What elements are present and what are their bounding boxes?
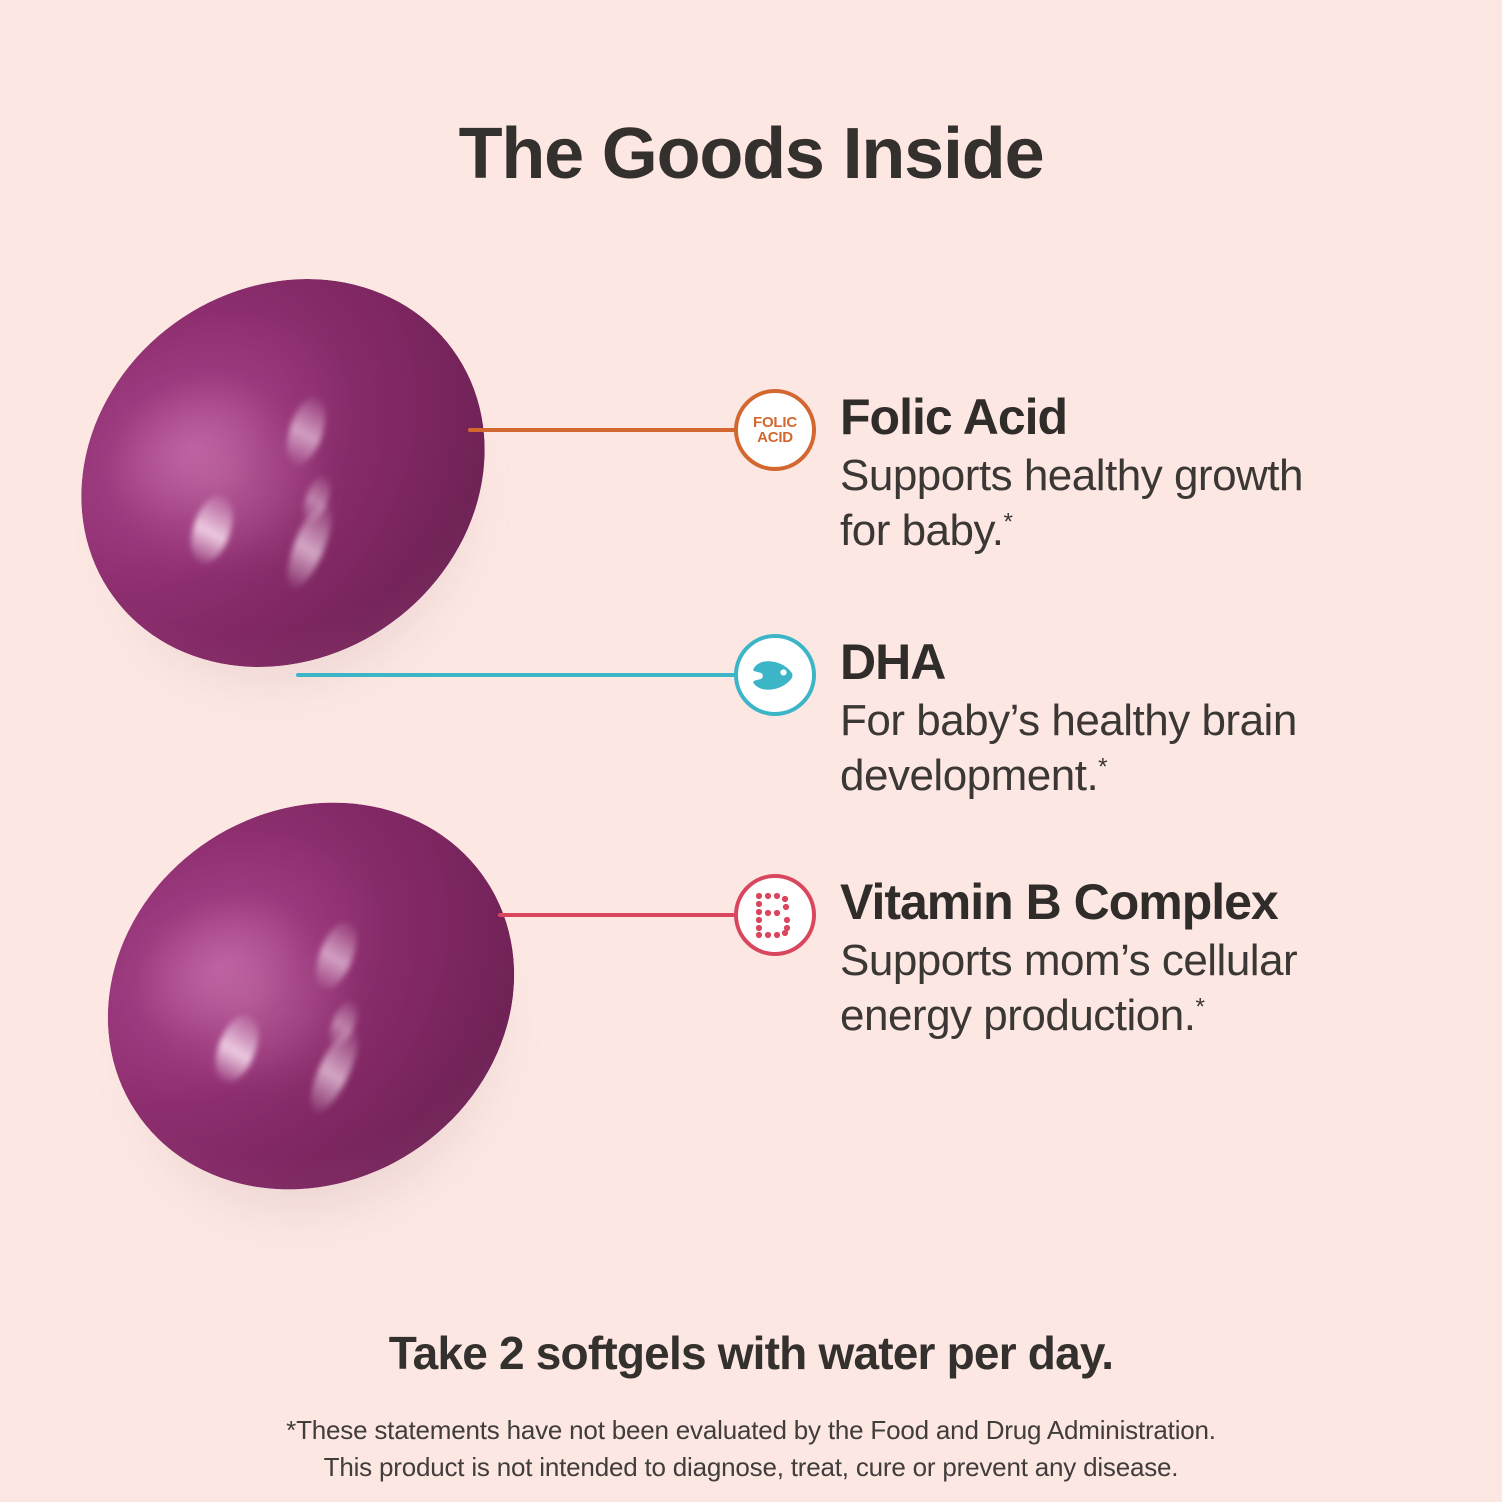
benefit-text-block: DHA For baby’s healthy brain development… [840, 634, 1340, 803]
capsule-rim-light [34, 726, 589, 1267]
footnote-marker: * [1003, 508, 1012, 535]
benefit-folic-acid: FOLIC ACID Folic Acid Supports healthy g… [734, 389, 1340, 558]
page-title: The Goods Inside [0, 118, 1502, 190]
benefit-description: Supports healthy growth for baby.* [840, 448, 1340, 558]
capsule-shape [34, 726, 589, 1267]
benefit-text-block: Folic Acid Supports healthy growth for b… [840, 389, 1340, 558]
vitamin-b-icon-glyph [753, 891, 797, 939]
benefit-text-block: Vitamin B Complex Supports mom’s cellula… [840, 874, 1340, 1043]
folic-acid-icon-line2: ACID [757, 429, 793, 446]
leader-line-folic-acid [468, 428, 740, 432]
footnote-marker: * [1098, 753, 1107, 780]
capsule-rim-light [4, 200, 561, 746]
disclaimer-line-2: This product is not intended to diagnose… [0, 1449, 1502, 1486]
folic-acid-icon-label: FOLIC ACID [753, 415, 797, 446]
leader-line-dha [296, 673, 738, 677]
benefit-description: For baby’s healthy brain development.* [840, 693, 1340, 803]
benefit-title: DHA [840, 636, 1340, 689]
benefit-description-text: Supports mom’s cellular energy productio… [840, 936, 1297, 1040]
product-infographic: The Goods Inside [0, 0, 1502, 1502]
footnote-marker: * [1195, 993, 1204, 1020]
fish-icon [734, 634, 816, 716]
fish-icon-glyph [750, 658, 800, 692]
disclaimer-line-1: *These statements have not been evaluate… [0, 1412, 1502, 1449]
softgel-capsule-top [68, 258, 498, 688]
benefit-description-text: Supports healthy growth for baby. [840, 451, 1303, 555]
capsule-shape [4, 200, 561, 746]
disclaimer: *These statements have not been evaluate… [0, 1412, 1502, 1486]
folic-acid-icon: FOLIC ACID [734, 389, 816, 471]
benefit-description-text: For baby’s healthy brain development. [840, 696, 1297, 800]
benefit-title: Vitamin B Complex [840, 876, 1340, 929]
benefit-vitamin-b-complex: Vitamin B Complex Supports mom’s cellula… [734, 874, 1340, 1043]
leader-line-vitamin-b [498, 913, 740, 917]
directions-text: Take 2 softgels with water per day. [0, 1326, 1502, 1380]
benefit-description: Supports mom’s cellular energy productio… [840, 933, 1340, 1043]
softgel-capsule-bottom [96, 786, 526, 1226]
benefit-title: Folic Acid [840, 391, 1340, 444]
vitamin-b-dotted-icon [734, 874, 816, 956]
benefit-dha: DHA For baby’s healthy brain development… [734, 634, 1340, 803]
